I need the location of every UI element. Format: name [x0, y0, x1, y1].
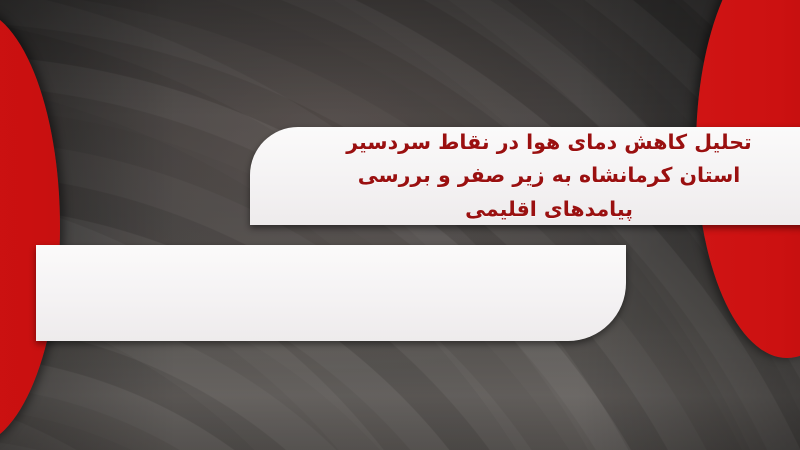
presentation-slide: تحلیل کاهش دمای هوا در نقاط سردسیر استان…	[0, 0, 800, 450]
subtitle-panel[interactable]	[36, 245, 626, 341]
slide-title: تحلیل کاهش دمای هوا در نقاط سردسیر استان…	[250, 126, 800, 226]
title-panel[interactable]: تحلیل کاهش دمای هوا در نقاط سردسیر استان…	[250, 127, 800, 225]
slide-subtitle	[36, 245, 626, 273]
